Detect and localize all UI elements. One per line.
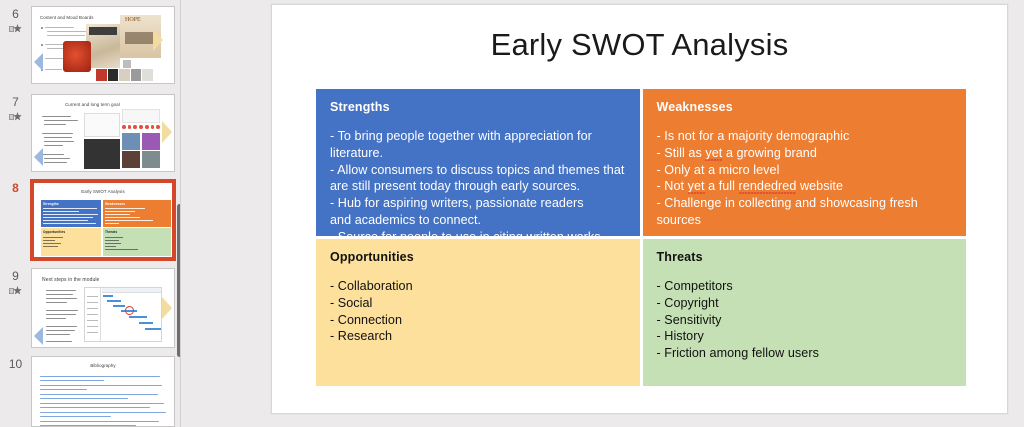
mini-image bbox=[123, 60, 131, 68]
mini-image bbox=[142, 151, 160, 168]
list-item: - Connection bbox=[330, 312, 628, 329]
mini-text-line bbox=[44, 145, 63, 146]
animation-star-icon bbox=[9, 24, 22, 35]
slide-editing-area[interactable]: Early SWOT Analysis Strengths - To bring… bbox=[181, 0, 1024, 427]
mini-text-line bbox=[46, 298, 77, 299]
list-item: - Challenge in collecting and showcasing… bbox=[657, 195, 955, 229]
mini-text-line bbox=[45, 69, 62, 70]
mini-slide-8: Early SWOT Analysis Strengths Weaknesses bbox=[34, 183, 172, 257]
mini-text-line bbox=[46, 334, 70, 335]
mini-quadrant-heading: Strengths bbox=[41, 200, 101, 206]
mini-quadrant-heading: Weaknesses bbox=[103, 200, 171, 206]
quadrant-heading-strengths: Strengths bbox=[330, 100, 628, 114]
list-item: - Only at a micro level bbox=[657, 162, 955, 179]
mini-text-line bbox=[46, 318, 66, 319]
mini-text-line bbox=[46, 302, 67, 303]
list-item-text: - Still as yet a growing brand bbox=[657, 146, 817, 160]
quadrant-strengths[interactable]: Strengths - To bring people together wit… bbox=[316, 89, 640, 236]
list-item: - Social bbox=[330, 295, 628, 312]
slide-thumbnail-6[interactable]: 6 Content and Mood Boards bbox=[0, 6, 181, 84]
slide-number-9: 9 bbox=[12, 269, 19, 283]
mini-text-line bbox=[44, 162, 67, 163]
slide-gutter-8: 8 bbox=[0, 180, 31, 195]
list-item: - Collaboration bbox=[330, 278, 628, 295]
mini-title-6: Content and Mood Boards bbox=[40, 15, 94, 20]
mini-reference-line bbox=[40, 376, 160, 377]
mini-image bbox=[122, 151, 140, 168]
mini-text-line bbox=[46, 314, 76, 315]
list-item: - Is not for a majority demographic bbox=[657, 128, 955, 145]
mini-image bbox=[108, 69, 118, 81]
mini-image bbox=[131, 69, 141, 81]
mini-reference-line bbox=[40, 403, 164, 404]
mini-gantt-chart bbox=[84, 287, 162, 342]
mini-title-7: Current and long term goal bbox=[65, 102, 120, 107]
presentation-editor-window: 6 Content and Mood Boards bbox=[0, 0, 1024, 427]
quadrant-heading-opportunities: Opportunities bbox=[330, 250, 628, 264]
list-item: - Source for people to use in citing wri… bbox=[330, 229, 628, 236]
mini-text-line bbox=[45, 44, 65, 45]
mini-arrow-shape bbox=[162, 121, 172, 143]
mini-quadrant-opportunities: Opportunities bbox=[41, 228, 101, 256]
list-item: - Copyright bbox=[657, 295, 955, 312]
page-title[interactable]: Early SWOT Analysis bbox=[272, 27, 1007, 63]
quadrant-weaknesses[interactable]: Weaknesses - Is not for a majority demog… bbox=[643, 89, 967, 236]
mini-image bbox=[122, 133, 140, 150]
mini-arrow-shape bbox=[34, 53, 43, 71]
mini-image bbox=[96, 69, 107, 81]
mini-reference-line bbox=[40, 412, 166, 413]
slide-thumbnail-9[interactable]: 9 Next steps in the module bbox=[0, 268, 181, 348]
mini-reference-line bbox=[40, 407, 150, 408]
mini-quadrant-weaknesses: Weaknesses bbox=[103, 200, 171, 227]
mini-text-line bbox=[46, 310, 78, 311]
mini-image bbox=[142, 69, 153, 81]
mini-image-dots bbox=[122, 125, 160, 130]
spellcheck-underline: yet bbox=[688, 179, 705, 193]
mini-reference-line bbox=[40, 416, 111, 417]
mini-text-line bbox=[42, 154, 64, 155]
mini-reference-line bbox=[40, 421, 159, 422]
list-item-text: - Not yet a full rendedred website bbox=[657, 179, 844, 193]
mini-slide-6: Content and Mood Boards bbox=[32, 7, 174, 83]
spellcheck-underline: yet bbox=[705, 146, 722, 160]
slide-gutter-10: 10 bbox=[0, 356, 31, 371]
mini-arrow-shape bbox=[34, 327, 43, 345]
slide-number-8: 8 bbox=[12, 181, 19, 195]
mini-reference-line bbox=[40, 385, 162, 386]
list-item: - Sensitivity bbox=[657, 312, 955, 329]
mini-slide-7: Current and long term goal bbox=[32, 95, 174, 171]
animation-star-icon bbox=[9, 112, 22, 123]
mini-arrow-shape bbox=[153, 29, 163, 51]
slide-number-6: 6 bbox=[12, 7, 19, 21]
mini-text-line bbox=[46, 294, 73, 295]
slide-preview-10[interactable]: Bibliography bbox=[31, 356, 175, 427]
swot-matrix: Strengths - To bring people together wit… bbox=[316, 89, 966, 386]
mini-text-line bbox=[47, 31, 89, 32]
list-item: - History bbox=[657, 328, 955, 345]
slide-gutter-9: 9 bbox=[0, 268, 31, 297]
list-item: - Friction among fellow users bbox=[657, 345, 955, 362]
quadrant-heading-weaknesses: Weaknesses bbox=[657, 100, 955, 114]
mini-text-line bbox=[45, 27, 74, 28]
mini-text-line bbox=[46, 330, 75, 331]
mini-text-line bbox=[46, 290, 76, 291]
slide-gutter-6: 6 bbox=[0, 6, 31, 35]
slide-preview-7[interactable]: Current and long term goal bbox=[31, 94, 175, 172]
mini-text-line bbox=[44, 137, 72, 138]
quadrant-list-opportunities: - Collaboration - Social - Connection - … bbox=[330, 278, 628, 345]
slide-preview-9[interactable]: Next steps in the module bbox=[31, 268, 175, 348]
quadrant-threats[interactable]: Threats - Competitors - Copyright - Sens… bbox=[643, 239, 967, 386]
slide-preview-8[interactable]: Early SWOT Analysis Strengths Weaknesses bbox=[31, 180, 175, 260]
mini-image bbox=[84, 113, 120, 137]
mini-title-8: Early SWOT Analysis bbox=[34, 189, 172, 194]
slide-number-7: 7 bbox=[12, 95, 19, 109]
mini-arrow-shape bbox=[34, 148, 43, 166]
mini-image bbox=[84, 139, 120, 169]
mini-text-line bbox=[46, 341, 72, 342]
mini-image bbox=[63, 41, 91, 72]
current-slide-canvas[interactable]: Early SWOT Analysis Strengths - To bring… bbox=[271, 4, 1008, 414]
mini-quadrant-strengths: Strengths bbox=[41, 200, 101, 227]
mini-text-line bbox=[42, 116, 71, 117]
slide-thumbnail-8[interactable]: 8 Early SWOT Analysis Strengths bbox=[0, 180, 181, 260]
mini-reference-line bbox=[40, 394, 158, 395]
mini-text-line bbox=[44, 120, 78, 121]
mini-bullet bbox=[41, 44, 43, 46]
mini-reference-line bbox=[40, 389, 87, 390]
mini-image bbox=[119, 69, 130, 81]
mini-reference-line bbox=[40, 380, 104, 381]
mini-quadrant-threats: Threats bbox=[103, 228, 171, 256]
mini-image bbox=[122, 109, 160, 123]
mini-quadrant-heading: Opportunities bbox=[41, 228, 101, 234]
list-item: - To bring people together with apprecia… bbox=[330, 128, 628, 162]
animation-star-icon bbox=[9, 286, 22, 297]
mini-text-line bbox=[44, 124, 66, 125]
mini-image bbox=[142, 133, 160, 150]
slide-thumbnail-panel[interactable]: 6 Content and Mood Boards bbox=[0, 0, 181, 427]
quadrant-opportunities[interactable]: Opportunities - Collaboration - Social -… bbox=[316, 239, 640, 386]
list-item: - Hub for aspiring writers, passionate r… bbox=[330, 195, 628, 229]
slide-gutter-7: 7 bbox=[0, 94, 31, 123]
slide-number-10: 10 bbox=[9, 357, 22, 371]
mini-title-10: Bibliography bbox=[32, 363, 174, 368]
mini-text-line bbox=[46, 326, 77, 327]
quadrant-list-strengths: - To bring people together with apprecia… bbox=[330, 128, 628, 236]
quadrant-list-weaknesses: - Is not for a majority demographic - St… bbox=[657, 128, 955, 229]
list-item: - Allow consumers to discuss topics and … bbox=[330, 162, 628, 196]
mini-bullet bbox=[41, 27, 43, 29]
list-item: - Research bbox=[330, 328, 628, 345]
list-item: - Competitors bbox=[657, 278, 955, 295]
list-item-misspelled: - Still as yet a growing brand bbox=[657, 145, 955, 162]
spellcheck-underline: rendedred bbox=[739, 179, 797, 193]
mini-image bbox=[86, 24, 120, 68]
list-item-misspelled: - Not yet a full rendedred website bbox=[657, 178, 955, 195]
mini-text-line bbox=[44, 141, 74, 142]
mini-arrow-shape bbox=[162, 297, 172, 319]
mini-text-line bbox=[44, 158, 70, 159]
mini-text-line bbox=[42, 133, 73, 134]
slide-thumbnail-7[interactable]: 7 Current and long term goal bbox=[0, 94, 181, 172]
quadrant-list-threats: - Competitors - Copyright - Sensitivity … bbox=[657, 278, 955, 362]
mini-image-caption: HOPE bbox=[125, 17, 141, 23]
mini-reference-line bbox=[40, 398, 128, 399]
slide-preview-6[interactable]: Content and Mood Boards bbox=[31, 6, 175, 84]
mini-quadrant-heading: Threats bbox=[103, 228, 171, 234]
mini-highlight-circle bbox=[125, 306, 134, 315]
slide-thumbnail-10[interactable]: 10 Bibliography bbox=[0, 356, 181, 427]
mini-text-line bbox=[47, 35, 85, 36]
mini-title-9: Next steps in the module bbox=[42, 277, 99, 283]
mini-slide-9: Next steps in the module bbox=[32, 269, 174, 347]
mini-slide-10: Bibliography bbox=[32, 357, 174, 426]
quadrant-heading-threats: Threats bbox=[657, 250, 955, 264]
mini-reference-line bbox=[40, 425, 136, 426]
